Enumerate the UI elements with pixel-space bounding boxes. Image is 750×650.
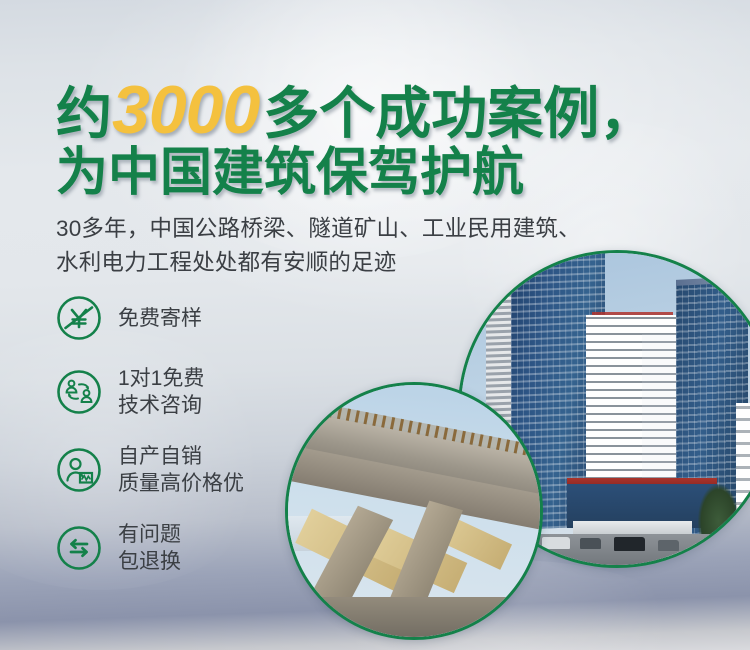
feature-line-1: 1对1免费 <box>118 367 204 390</box>
headline-number: 3000 <box>112 72 263 148</box>
feature-item-free-sample[interactable]: 免费寄样 <box>56 295 244 341</box>
feature-line-2: 技术咨询 <box>118 392 204 419</box>
bridge-photo <box>285 382 543 640</box>
subtitle-line-1: 30多年，中国公路桥梁、隧道矿山、工业民用建筑、 <box>56 212 716 246</box>
headline-suffix: 多个成功案例， <box>263 82 655 145</box>
return-exchange-icon <box>56 525 102 571</box>
parked-car <box>542 537 570 549</box>
feature-item-quality[interactable]: 自产自销 质量高价格优 <box>56 443 244 497</box>
one-on-one-consult-icon <box>56 369 102 415</box>
feature-label: 自产自销 质量高价格优 <box>118 443 244 497</box>
subtitle-line-2: 水利电力工程处处都有安顺的足迹 <box>56 246 716 280</box>
subtitle: 30多年，中国公路桥梁、隧道矿山、工业民用建筑、 水利电力工程处处都有安顺的足迹 <box>56 212 716 280</box>
headline-line-1: 约3000多个成功案例， <box>56 78 696 146</box>
ground <box>288 597 540 640</box>
feature-line-2: 包退换 <box>118 548 181 575</box>
feature-item-consultation[interactable]: 1对1免费 技术咨询 <box>56 365 244 419</box>
self-production-quality-icon <box>56 447 102 493</box>
parked-car <box>580 538 602 549</box>
feature-label: 1对1免费 技术咨询 <box>118 365 204 419</box>
feature-item-return-exchange[interactable]: 有问题 包退换 <box>56 521 244 575</box>
feature-line-1: 自产自销 <box>118 445 202 468</box>
promo-banner: 约3000多个成功案例， 为中国建筑保驾护航 30多年，中国公路桥梁、隧道矿山、… <box>0 0 750 650</box>
feature-line-1: 有问题 <box>118 523 181 546</box>
parked-car <box>614 537 645 551</box>
feature-label: 有问题 包退换 <box>118 521 181 575</box>
headline-line-2: 为中国建筑保驾护航 <box>56 142 696 204</box>
parked-car <box>658 540 680 551</box>
page-title: 约3000多个成功案例， 为中国建筑保驾护航 <box>56 78 696 204</box>
feature-label: 免费寄样 <box>118 305 202 332</box>
feature-list: 免费寄样 1对1免费 技术咨询 <box>56 295 244 575</box>
feature-line-1: 免费寄样 <box>118 307 202 330</box>
feature-line-2: 质量高价格优 <box>118 470 244 497</box>
no-cost-yuan-icon <box>56 295 102 341</box>
headline-prefix: 约 <box>56 82 112 145</box>
